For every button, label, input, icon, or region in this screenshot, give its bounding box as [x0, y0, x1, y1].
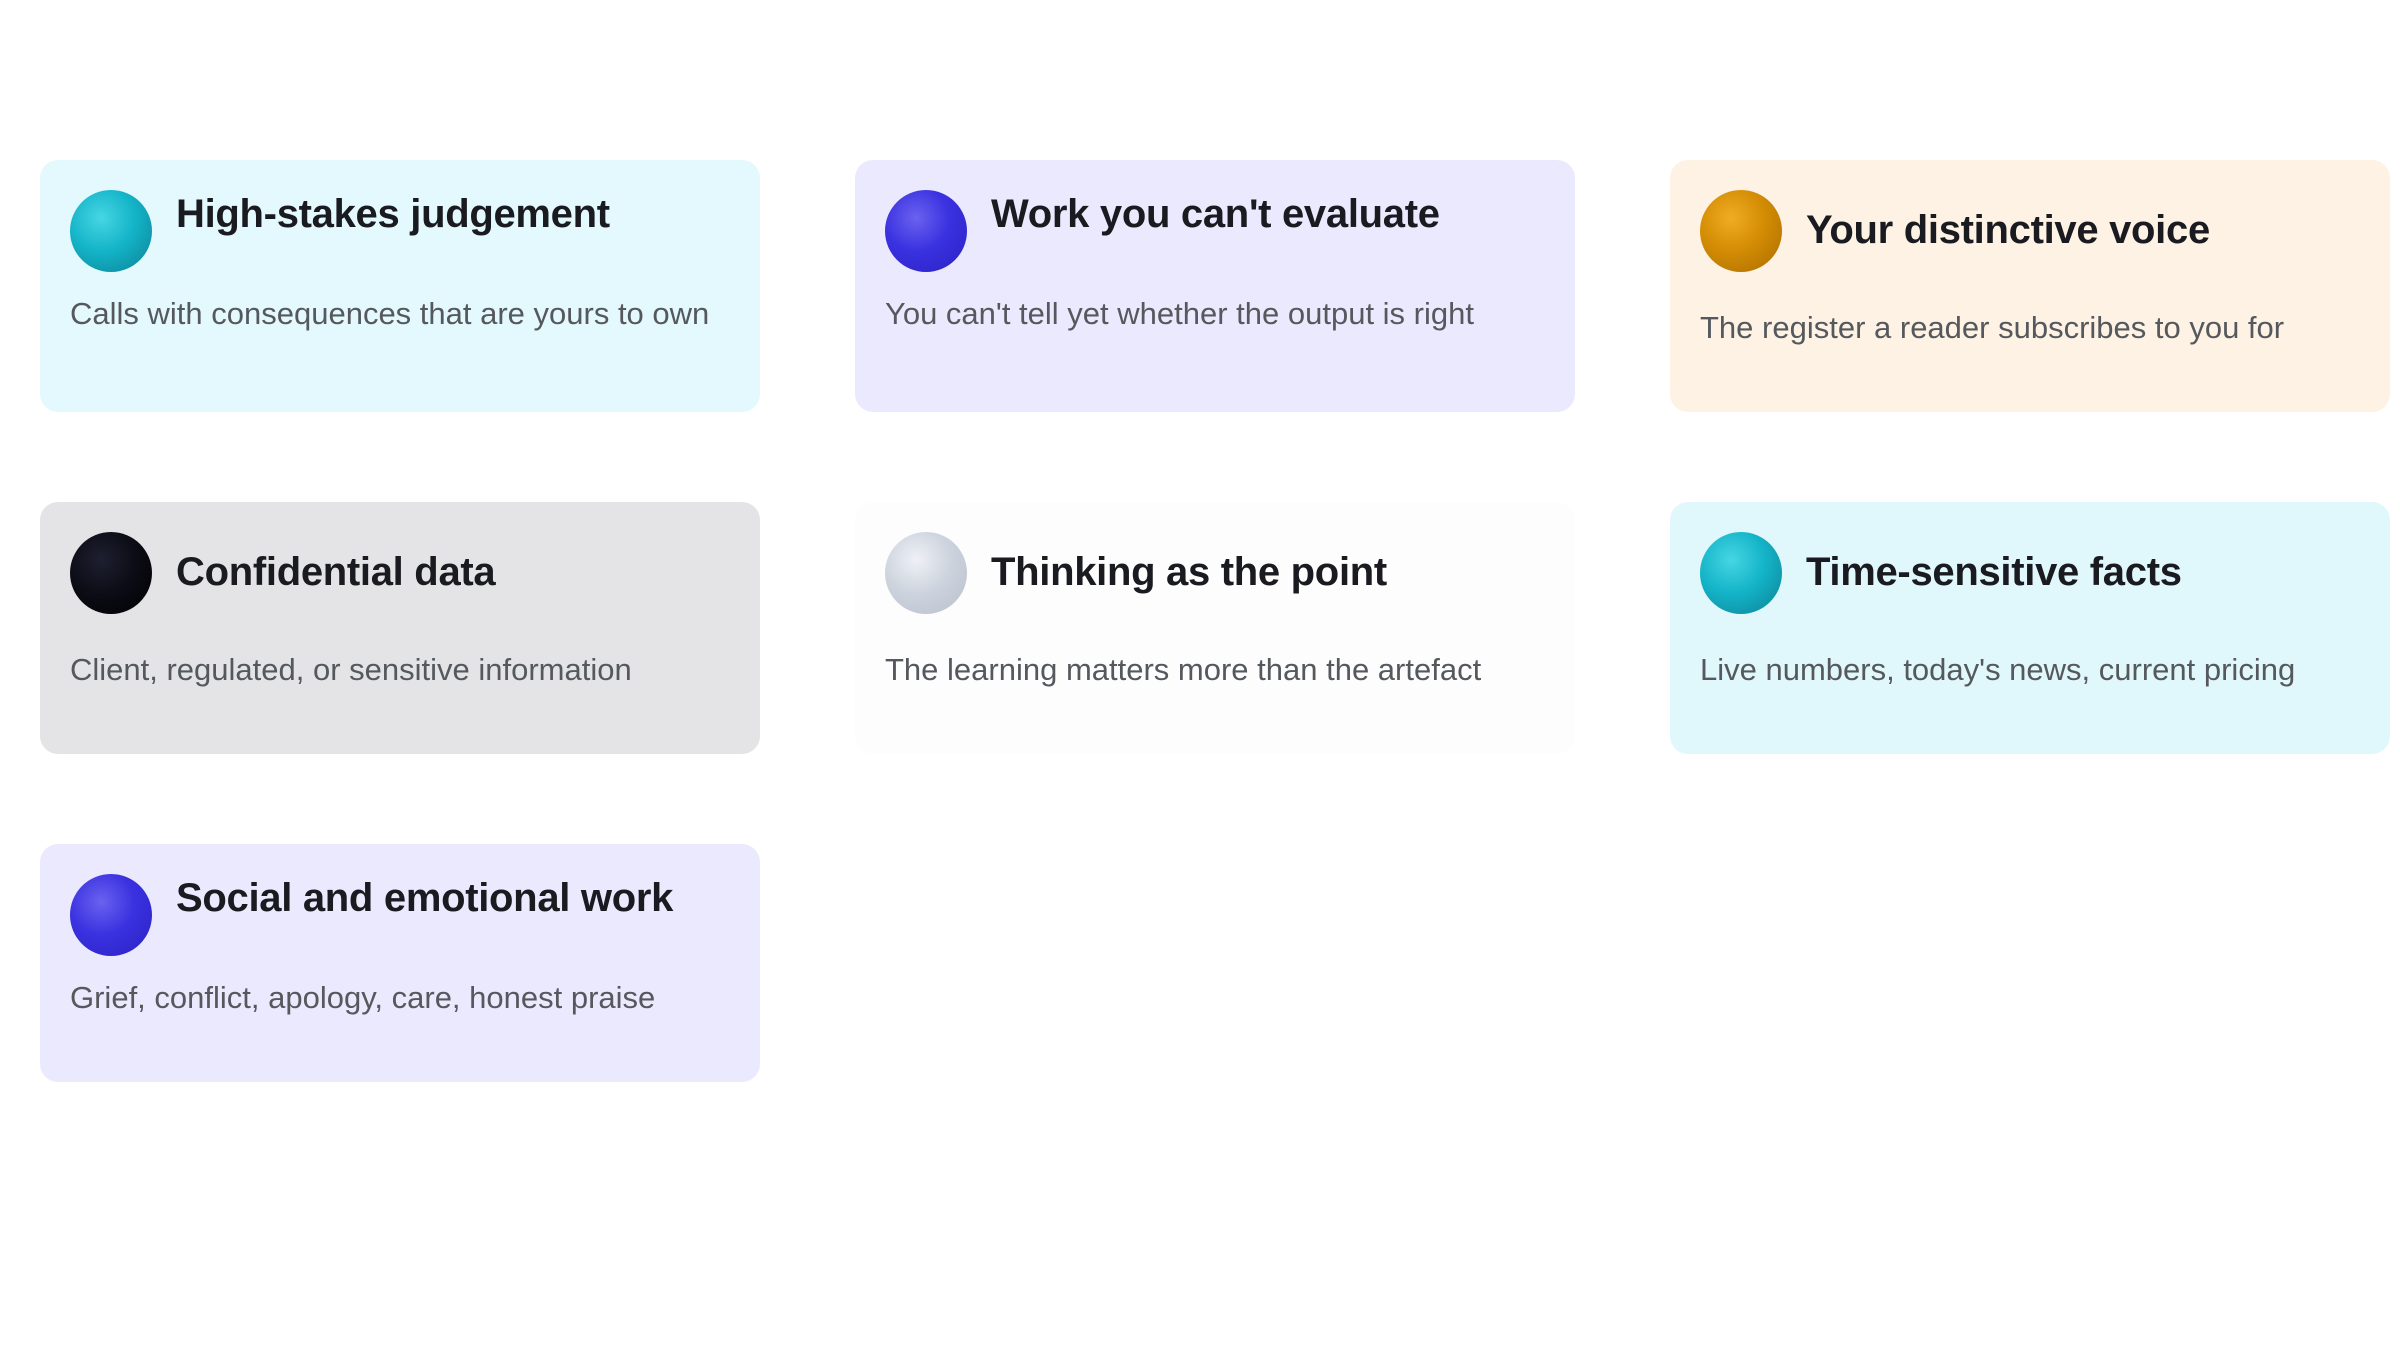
card-title: Your distinctive voice	[1806, 208, 2210, 254]
card-grid: High-stakes judgementCalls with conseque…	[40, 160, 2360, 1082]
card-description: Calls with consequences that are yours t…	[70, 294, 730, 333]
card-header: Confidential data	[70, 528, 730, 614]
teal-sphere-icon	[1700, 532, 1782, 614]
card-high-stakes-judgement[interactable]: High-stakes judgementCalls with conseque…	[40, 160, 760, 412]
card-your-distinctive-voice[interactable]: Your distinctive voiceThe register a rea…	[1670, 160, 2390, 412]
card-confidential-data[interactable]: Confidential dataClient, regulated, or s…	[40, 502, 760, 754]
card-header: Work you can't evaluate	[885, 186, 1545, 272]
card-header: High-stakes judgement	[70, 186, 730, 272]
card-title: Thinking as the point	[991, 550, 1387, 596]
card-social-and-emotional-work[interactable]: Social and emotional workGrief, conflict…	[40, 844, 760, 1082]
card-time-sensitive-facts[interactable]: Time-sensitive factsLive numbers, today'…	[1670, 502, 2390, 754]
card-title: Work you can't evaluate	[991, 192, 1440, 238]
card-thinking-as-the-point[interactable]: Thinking as the pointThe learning matter…	[855, 502, 1575, 754]
teal-sphere-icon	[70, 190, 152, 272]
card-description: The learning matters more than the artef…	[885, 650, 1545, 689]
card-description: Client, regulated, or sensitive informat…	[70, 650, 730, 689]
card-title: Confidential data	[176, 550, 495, 596]
card-header: Social and emotional work	[70, 870, 730, 956]
black-sphere-icon	[70, 532, 152, 614]
silver-sphere-icon	[885, 532, 967, 614]
card-title: Time-sensitive facts	[1806, 550, 2182, 596]
card-title: Social and emotional work	[176, 876, 673, 922]
card-header: Thinking as the point	[885, 528, 1545, 614]
card-work-you-cant-evaluate[interactable]: Work you can't evaluateYou can't tell ye…	[855, 160, 1575, 412]
card-description: Grief, conflict, apology, care, honest p…	[70, 978, 730, 1017]
card-header: Your distinctive voice	[1700, 186, 2360, 272]
card-description: The register a reader subscribes to you …	[1700, 308, 2360, 347]
card-description: Live numbers, today's news, current pric…	[1700, 650, 2360, 689]
orange-sphere-icon	[1700, 190, 1782, 272]
card-grid-board: High-stakes judgementCalls with conseque…	[0, 0, 2400, 1350]
blue-sphere-icon	[70, 874, 152, 956]
card-description: You can't tell yet whether the output is…	[885, 294, 1545, 333]
blue-sphere-icon	[885, 190, 967, 272]
card-header: Time-sensitive facts	[1700, 528, 2360, 614]
card-title: High-stakes judgement	[176, 192, 610, 238]
